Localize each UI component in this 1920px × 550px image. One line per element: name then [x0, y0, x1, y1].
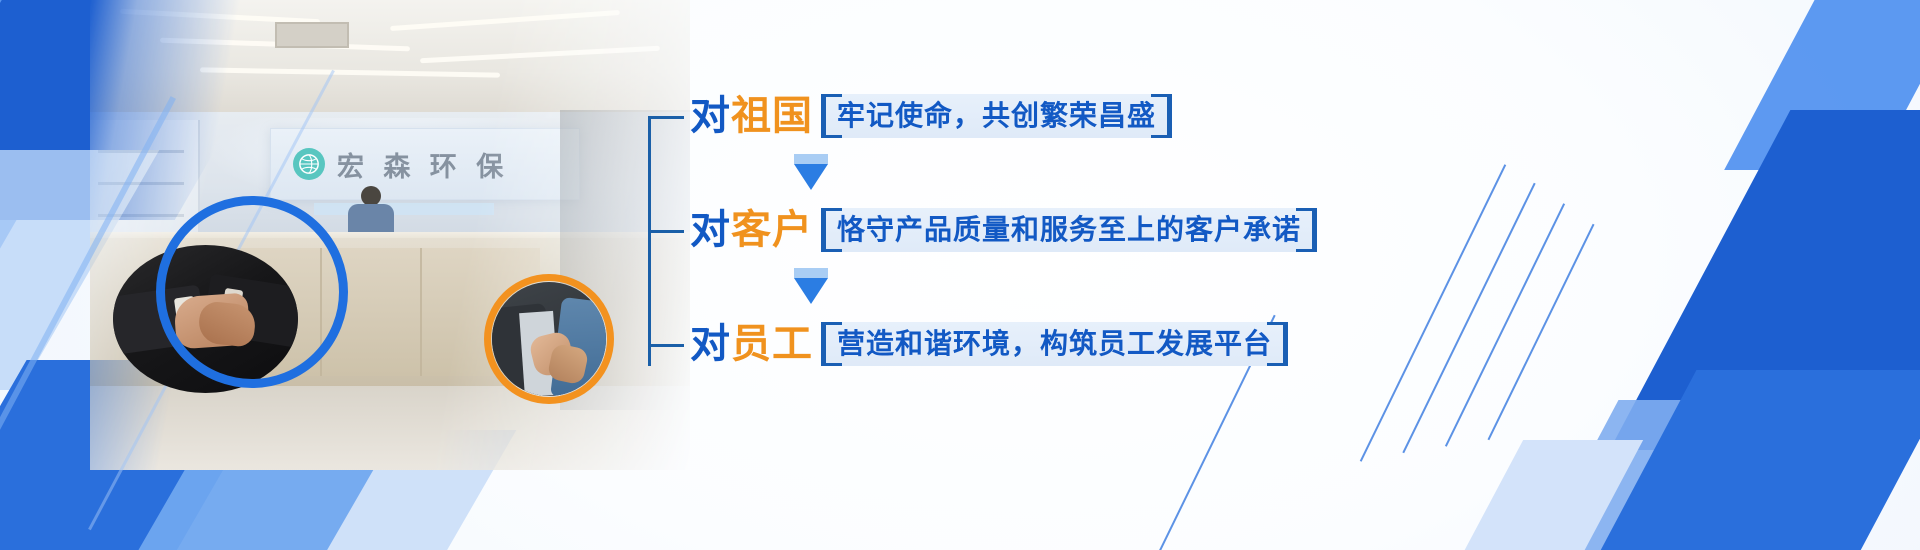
row-tag-text: 牢记使命，共创繁荣昌盛	[837, 99, 1156, 132]
list-item: 对客户 恪守产品质量和服务至上的客户承诺	[648, 202, 1317, 258]
down-arrow-icon-2	[794, 268, 828, 308]
row-heading-keyword: 祖国	[731, 93, 813, 139]
arrow-top-bar	[794, 268, 828, 278]
row-heading-prefix: 对	[690, 93, 731, 139]
arrow-top-bar	[794, 154, 828, 164]
arrow-triangle	[794, 278, 828, 304]
row-tag-box: 恪守产品质量和服务至上的客户承诺	[821, 208, 1317, 253]
row-heading: 对员工	[690, 324, 813, 364]
connector-stub	[648, 116, 684, 119]
list-item: 对祖国 牢记使命，共创繁荣昌盛	[648, 88, 1172, 144]
photo-shelf-line	[98, 182, 184, 185]
photo-ceiling	[90, 0, 690, 120]
values-list: 对祖国 牢记使命，共创繁荣昌盛 对客户 恪守产品质量和服务至上的客户承诺 对员工…	[648, 78, 1368, 398]
row-tag-box: 牢记使命，共创繁荣昌盛	[821, 94, 1172, 139]
row-tag-text: 恪守产品质量和服务至上的客户承诺	[837, 213, 1301, 246]
photo-counter-seam	[420, 248, 422, 376]
down-arrow-icon-1	[794, 154, 828, 194]
photo-person-head	[361, 186, 381, 206]
globe-leaf-logo-icon	[293, 148, 325, 180]
row-heading-prefix: 对	[690, 321, 731, 367]
row-heading: 对祖国	[690, 96, 813, 136]
row-tag-text: 营造和谐环境，构筑员工发展平台	[837, 327, 1272, 360]
company-sign-text: 宏 森 环 保	[337, 145, 508, 184]
row-heading-keyword: 员工	[731, 321, 813, 367]
handshake-photo-ring	[156, 196, 348, 388]
company-sign: 宏 森 环 保	[270, 128, 580, 200]
row-heading: 对客户	[690, 210, 813, 250]
row-heading-prefix: 对	[690, 207, 731, 253]
row-tag-box: 营造和谐环境，构筑员工发展平台	[821, 322, 1288, 367]
arrow-triangle	[794, 164, 828, 190]
photo-ceiling-vent	[275, 22, 349, 48]
list-item: 对员工 营造和谐环境，构筑员工发展平台	[648, 316, 1288, 372]
row-heading-keyword: 客户	[731, 207, 813, 253]
connector-stub	[648, 230, 684, 233]
applause-photo-ring	[484, 274, 614, 404]
photo-sign-subpanel	[314, 203, 494, 215]
connector-stub	[648, 344, 684, 347]
promotional-banner: 宏 森 环 保	[0, 0, 1920, 550]
